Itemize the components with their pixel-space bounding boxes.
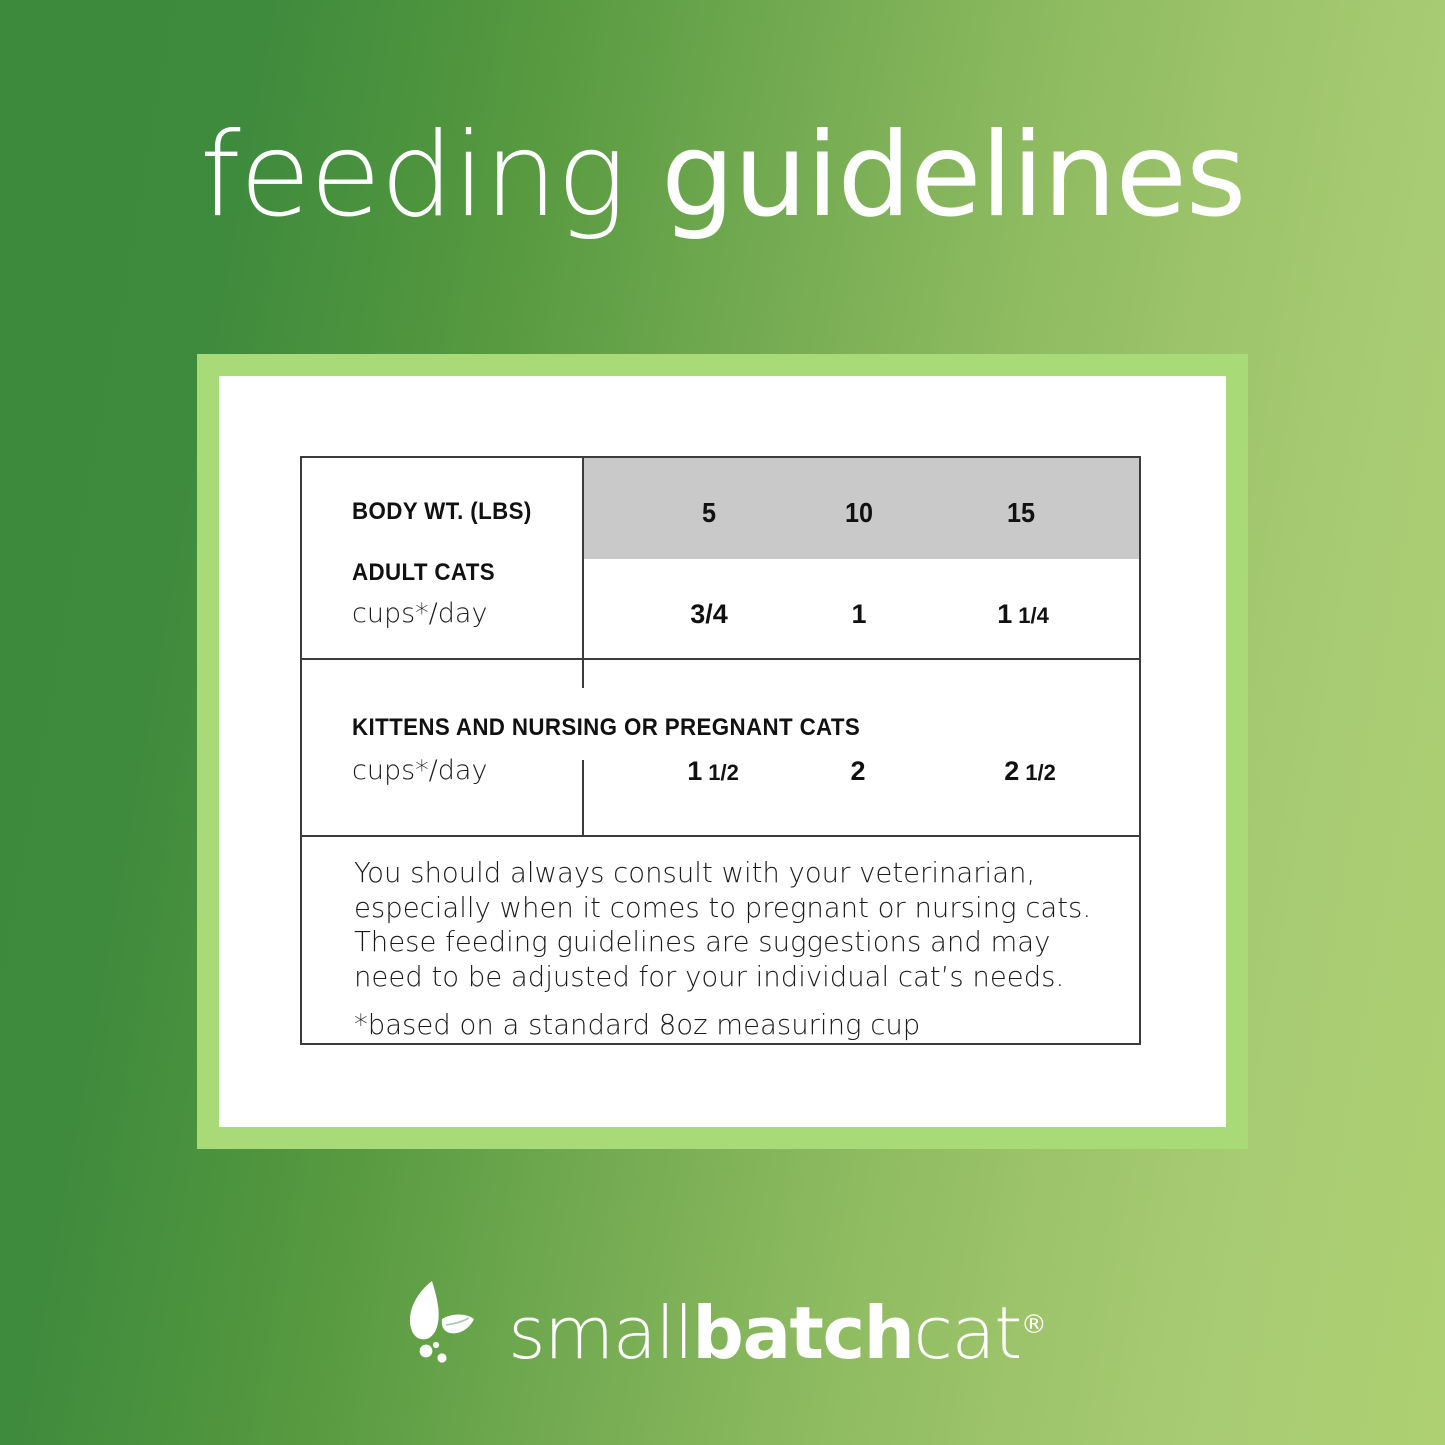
- feeding-table: BODY WT. (LBS) 5 10 15 ADULT CATS cups*/…: [300, 456, 1141, 1045]
- note-paragraph: You should always consult with your vete…: [354, 856, 1094, 994]
- adult-value-col1: 3/4: [690, 599, 728, 630]
- page-title-part-1: feeding: [200, 108, 661, 243]
- note-footnote: *based on a standard 8oz measuring cup: [354, 1008, 1094, 1043]
- registered-trademark-icon: ®: [1021, 1310, 1047, 1340]
- feeding-guidelines-page: feeding guidelines BODY WT. (LBS) 5 10 1…: [0, 0, 1445, 1445]
- page-title: feeding guidelines: [0, 118, 1445, 234]
- divider-vertical-lower: [582, 760, 584, 835]
- kittens-value-col1-frac: 1/2: [708, 760, 739, 785]
- brand-word-batch: batch: [692, 1291, 913, 1375]
- kittens-value-col2: 2: [850, 756, 865, 787]
- page-title-part-2: guidelines: [661, 108, 1245, 243]
- brand-logo: smallbatchcat®: [0, 1262, 1445, 1392]
- divider-kittens-note: [302, 835, 1139, 837]
- brand-word-small: small: [508, 1291, 692, 1375]
- note-line-3: These feeding guidelines are suggestions…: [354, 925, 1094, 960]
- adult-value-col3-frac: 1/4: [1018, 603, 1049, 628]
- adult-cats-unit: cups*/day: [352, 598, 487, 629]
- divider-adult-kittens: [302, 658, 1139, 660]
- adult-value-col1-whole: 3/4: [690, 599, 728, 629]
- leaf-sprout-icon: [398, 1275, 502, 1379]
- weight-value-col3: 15: [1007, 497, 1035, 529]
- kittens-value-col3-whole: 2: [1004, 756, 1019, 786]
- kittens-unit: cups*/day: [352, 755, 487, 786]
- note-line-2: especially when it comes to pregnant or …: [354, 891, 1094, 926]
- brand-word-cat: cat: [913, 1291, 1020, 1375]
- kittens-value-col1: 11/2: [687, 756, 739, 787]
- body-weight-label: BODY WT. (LBS): [352, 498, 532, 526]
- kittens-value-col2-whole: 2: [850, 756, 865, 786]
- adult-value-col2-whole: 1: [851, 599, 866, 629]
- note-line-4: need to be adjusted for your individual …: [354, 960, 1094, 995]
- adult-value-col3: 11/4: [997, 599, 1049, 630]
- adult-cats-label: ADULT CATS: [352, 559, 495, 587]
- kittens-label: KITTENS AND NURSING OR PREGNANT CATS: [352, 714, 860, 742]
- note-line-1: You should always consult with your vete…: [354, 856, 1094, 891]
- brand-wordmark: smallbatchcat®: [508, 1297, 1047, 1369]
- kittens-value-col1-whole: 1: [687, 756, 702, 786]
- kittens-value-col3: 21/2: [1004, 756, 1056, 787]
- divider-vertical-upper: [582, 458, 584, 688]
- adult-value-col3-whole: 1: [997, 599, 1012, 629]
- kittens-value-col3-frac: 1/2: [1025, 760, 1056, 785]
- weight-value-col1: 5: [702, 497, 716, 529]
- adult-value-col2: 1: [851, 599, 866, 630]
- weight-value-col2: 10: [845, 497, 873, 529]
- note-block: You should always consult with your vete…: [354, 856, 1094, 1043]
